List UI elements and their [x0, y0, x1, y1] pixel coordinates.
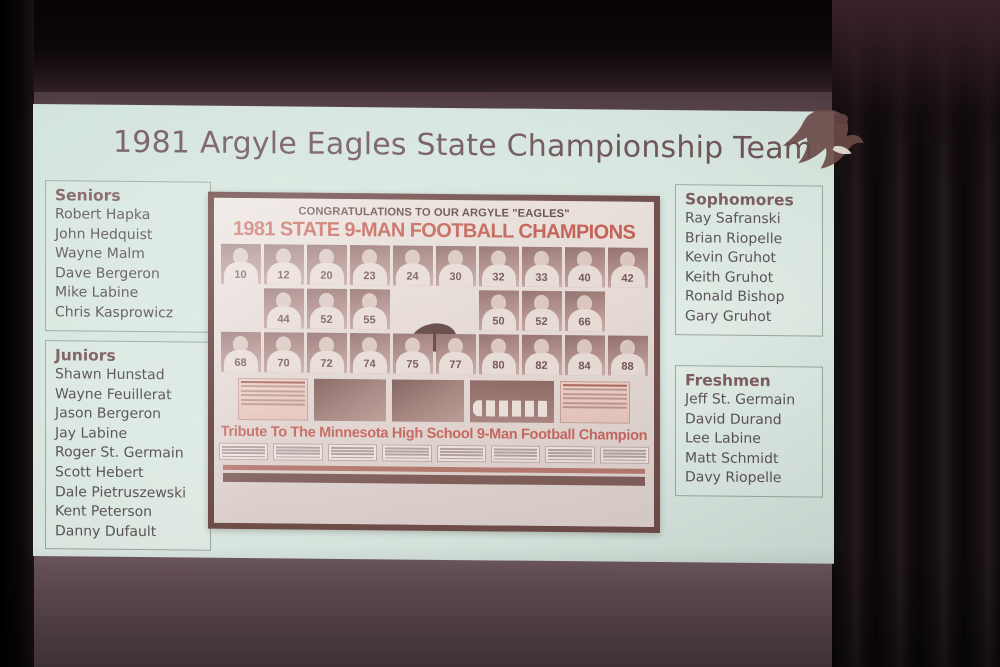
player-portrait: 84 — [565, 335, 605, 375]
player-portrait: 77 — [436, 334, 476, 374]
roster-name: Wayne Feuillerat — [55, 385, 201, 406]
player-portrait: 52 — [522, 291, 562, 331]
roster-heading-juniors: Juniors — [55, 346, 201, 365]
jersey-number: 12 — [264, 269, 304, 281]
poster-footer-band — [223, 473, 645, 486]
roster-heading-seniors: Seniors — [55, 186, 201, 205]
jersey-number: 23 — [350, 270, 390, 282]
projected-slide: 1981 Argyle Eagles State Championship Te… — [33, 104, 834, 564]
jersey-number: 55 — [350, 314, 390, 326]
roster-name: Kevin Gruhot — [685, 248, 813, 269]
roster-name: Scott Hebert — [55, 463, 201, 484]
roster-name: Kent Peterson — [55, 502, 201, 523]
season-stats-table — [238, 378, 308, 421]
jersey-number: 10 — [221, 269, 261, 281]
sponsor-box — [273, 443, 322, 460]
roster-name: Davy Riopelle — [685, 469, 813, 490]
jersey-number: 50 — [479, 315, 519, 327]
roster-sophomores: Sophomores Ray Safranski Brian Riopelle … — [675, 184, 823, 336]
jersey-number: 80 — [479, 359, 519, 371]
jersey-number: 33 — [522, 272, 562, 284]
player-portrait: 40 — [565, 247, 605, 287]
player-portrait: 75 — [393, 333, 433, 373]
poster-sponsor-row — [219, 443, 649, 464]
action-photo — [392, 379, 464, 422]
roster-heading-freshmen: Freshmen — [685, 371, 813, 390]
championship-newspaper-poster: CONGRATULATIONS TO OUR ARGYLE "EAGLES" 1… — [208, 192, 660, 533]
jersey-number: 66 — [565, 316, 605, 328]
roster-name: Jeff St. Germain — [685, 390, 813, 411]
roster-name: Danny Dufault — [55, 522, 201, 543]
roster-name: Shawn Hunstad — [55, 365, 201, 386]
player-portrait: 55 — [350, 289, 390, 329]
jersey-number: 52 — [522, 316, 562, 328]
jersey-number: 88 — [608, 361, 648, 373]
jersey-number: 77 — [436, 359, 476, 371]
sponsor-box — [382, 444, 431, 461]
player-portrait: 44 — [264, 288, 304, 328]
player-portrait: 70 — [264, 332, 304, 372]
player-portrait: 66 — [565, 291, 605, 331]
jersey-number: 74 — [350, 358, 390, 370]
jersey-number: 72 — [307, 358, 347, 370]
sponsor-box — [437, 445, 486, 462]
player-portrait: 24 — [393, 245, 433, 285]
poster-headline: 1981 STATE 9-MAN FOOTBALL CHAMPIONS — [219, 218, 649, 244]
jersey-number: 52 — [307, 314, 347, 326]
roster-name: Roger St. Germain — [55, 444, 201, 465]
photo-gap — [221, 288, 261, 328]
roster-name: David Durand — [685, 410, 813, 431]
player-portrait: 52 — [307, 289, 347, 329]
player-portrait: 33 — [522, 247, 562, 287]
player-portrait: 23 — [350, 245, 390, 285]
player-portrait: 20 — [307, 245, 347, 285]
projection-room-scene: 1981 Argyle Eagles State Championship Te… — [0, 0, 1000, 667]
roster-juniors: Juniors Shawn Hunstad Wayne Feuillerat J… — [45, 340, 211, 551]
roster-seniors: Seniors Robert Hapka John Hedquist Wayne… — [45, 180, 211, 332]
sponsor-box — [328, 444, 377, 461]
poster-tribute-line: Tribute To The Minnesota High School 9-M… — [219, 424, 649, 444]
roster-name: Jay Labine — [55, 424, 201, 445]
roster-name: Robert Hapka — [55, 205, 201, 226]
roster-name: Dave Bergeron — [55, 264, 201, 285]
jersey-number: 42 — [608, 273, 648, 285]
player-portrait: 30 — [436, 246, 476, 286]
roster-name: Ray Safranski — [685, 209, 813, 230]
jersey-number: 44 — [264, 313, 304, 325]
jersey-number: 30 — [436, 271, 476, 283]
roster-name: Mike Labine — [55, 284, 201, 305]
jersey-number: 24 — [393, 270, 433, 282]
sponsor-box — [491, 445, 540, 462]
roster-heading-sophomores: Sophomores — [685, 190, 813, 209]
roster-name: Chris Kasprowicz — [55, 303, 201, 324]
roster-name: Matt Schmidt — [685, 449, 813, 470]
player-portrait: 42 — [608, 248, 648, 288]
sponsor-box — [219, 443, 268, 460]
action-photo — [314, 379, 386, 422]
player-portrait: 68 — [221, 332, 261, 372]
poster-content: CONGRATULATIONS TO OUR ARGYLE "EAGLES" 1… — [214, 198, 654, 527]
jersey-number: 70 — [264, 357, 304, 369]
roster-name: Keith Gruhot — [685, 268, 813, 289]
roster-name: Lee Labine — [685, 429, 813, 450]
page-title: 1981 Argyle Eagles State Championship Te… — [113, 125, 773, 166]
player-portrait: 50 — [479, 290, 519, 330]
jersey-number: 20 — [307, 270, 347, 282]
sponsor-box — [600, 446, 649, 463]
roster-name: Dale Pietruszewski — [55, 483, 201, 504]
roster-name: Wayne Malm — [55, 244, 201, 265]
player-portrait: 12 — [264, 244, 304, 284]
jersey-number: 84 — [565, 360, 605, 372]
player-portrait: 82 — [522, 335, 562, 375]
jersey-number: 68 — [221, 357, 261, 369]
player-portrait: 80 — [479, 334, 519, 374]
poster-stats-strip — [219, 378, 649, 424]
playoff-stats-table — [560, 381, 630, 424]
jersey-number: 40 — [565, 272, 605, 284]
roster-name: Gary Gruhot — [685, 307, 813, 328]
player-portrait: 32 — [479, 246, 519, 286]
roster-name: John Hedquist — [55, 225, 201, 246]
room-floor-shadow — [0, 547, 1000, 667]
player-portrait: 88 — [608, 336, 648, 376]
team-photo — [470, 380, 554, 423]
roster-freshmen: Freshmen Jeff St. Germain David Durand L… — [675, 365, 823, 497]
jersey-number: 75 — [393, 358, 433, 370]
photo-gap — [608, 292, 648, 332]
jersey-number: 32 — [479, 271, 519, 283]
sponsor-box — [545, 446, 594, 463]
roster-name: Brian Riopelle — [685, 229, 813, 250]
player-photo-row-1: 10 12 20 23 24 30 32 33 40 42 — [219, 244, 649, 288]
roster-name: Jason Bergeron — [55, 404, 201, 425]
player-portrait: 10 — [221, 244, 261, 284]
player-portrait: 74 — [350, 333, 390, 373]
roster-name: Ronald Bishop — [685, 288, 813, 309]
jersey-number: 82 — [522, 360, 562, 372]
player-portrait: 72 — [307, 333, 347, 373]
eagle-icon — [781, 101, 867, 188]
